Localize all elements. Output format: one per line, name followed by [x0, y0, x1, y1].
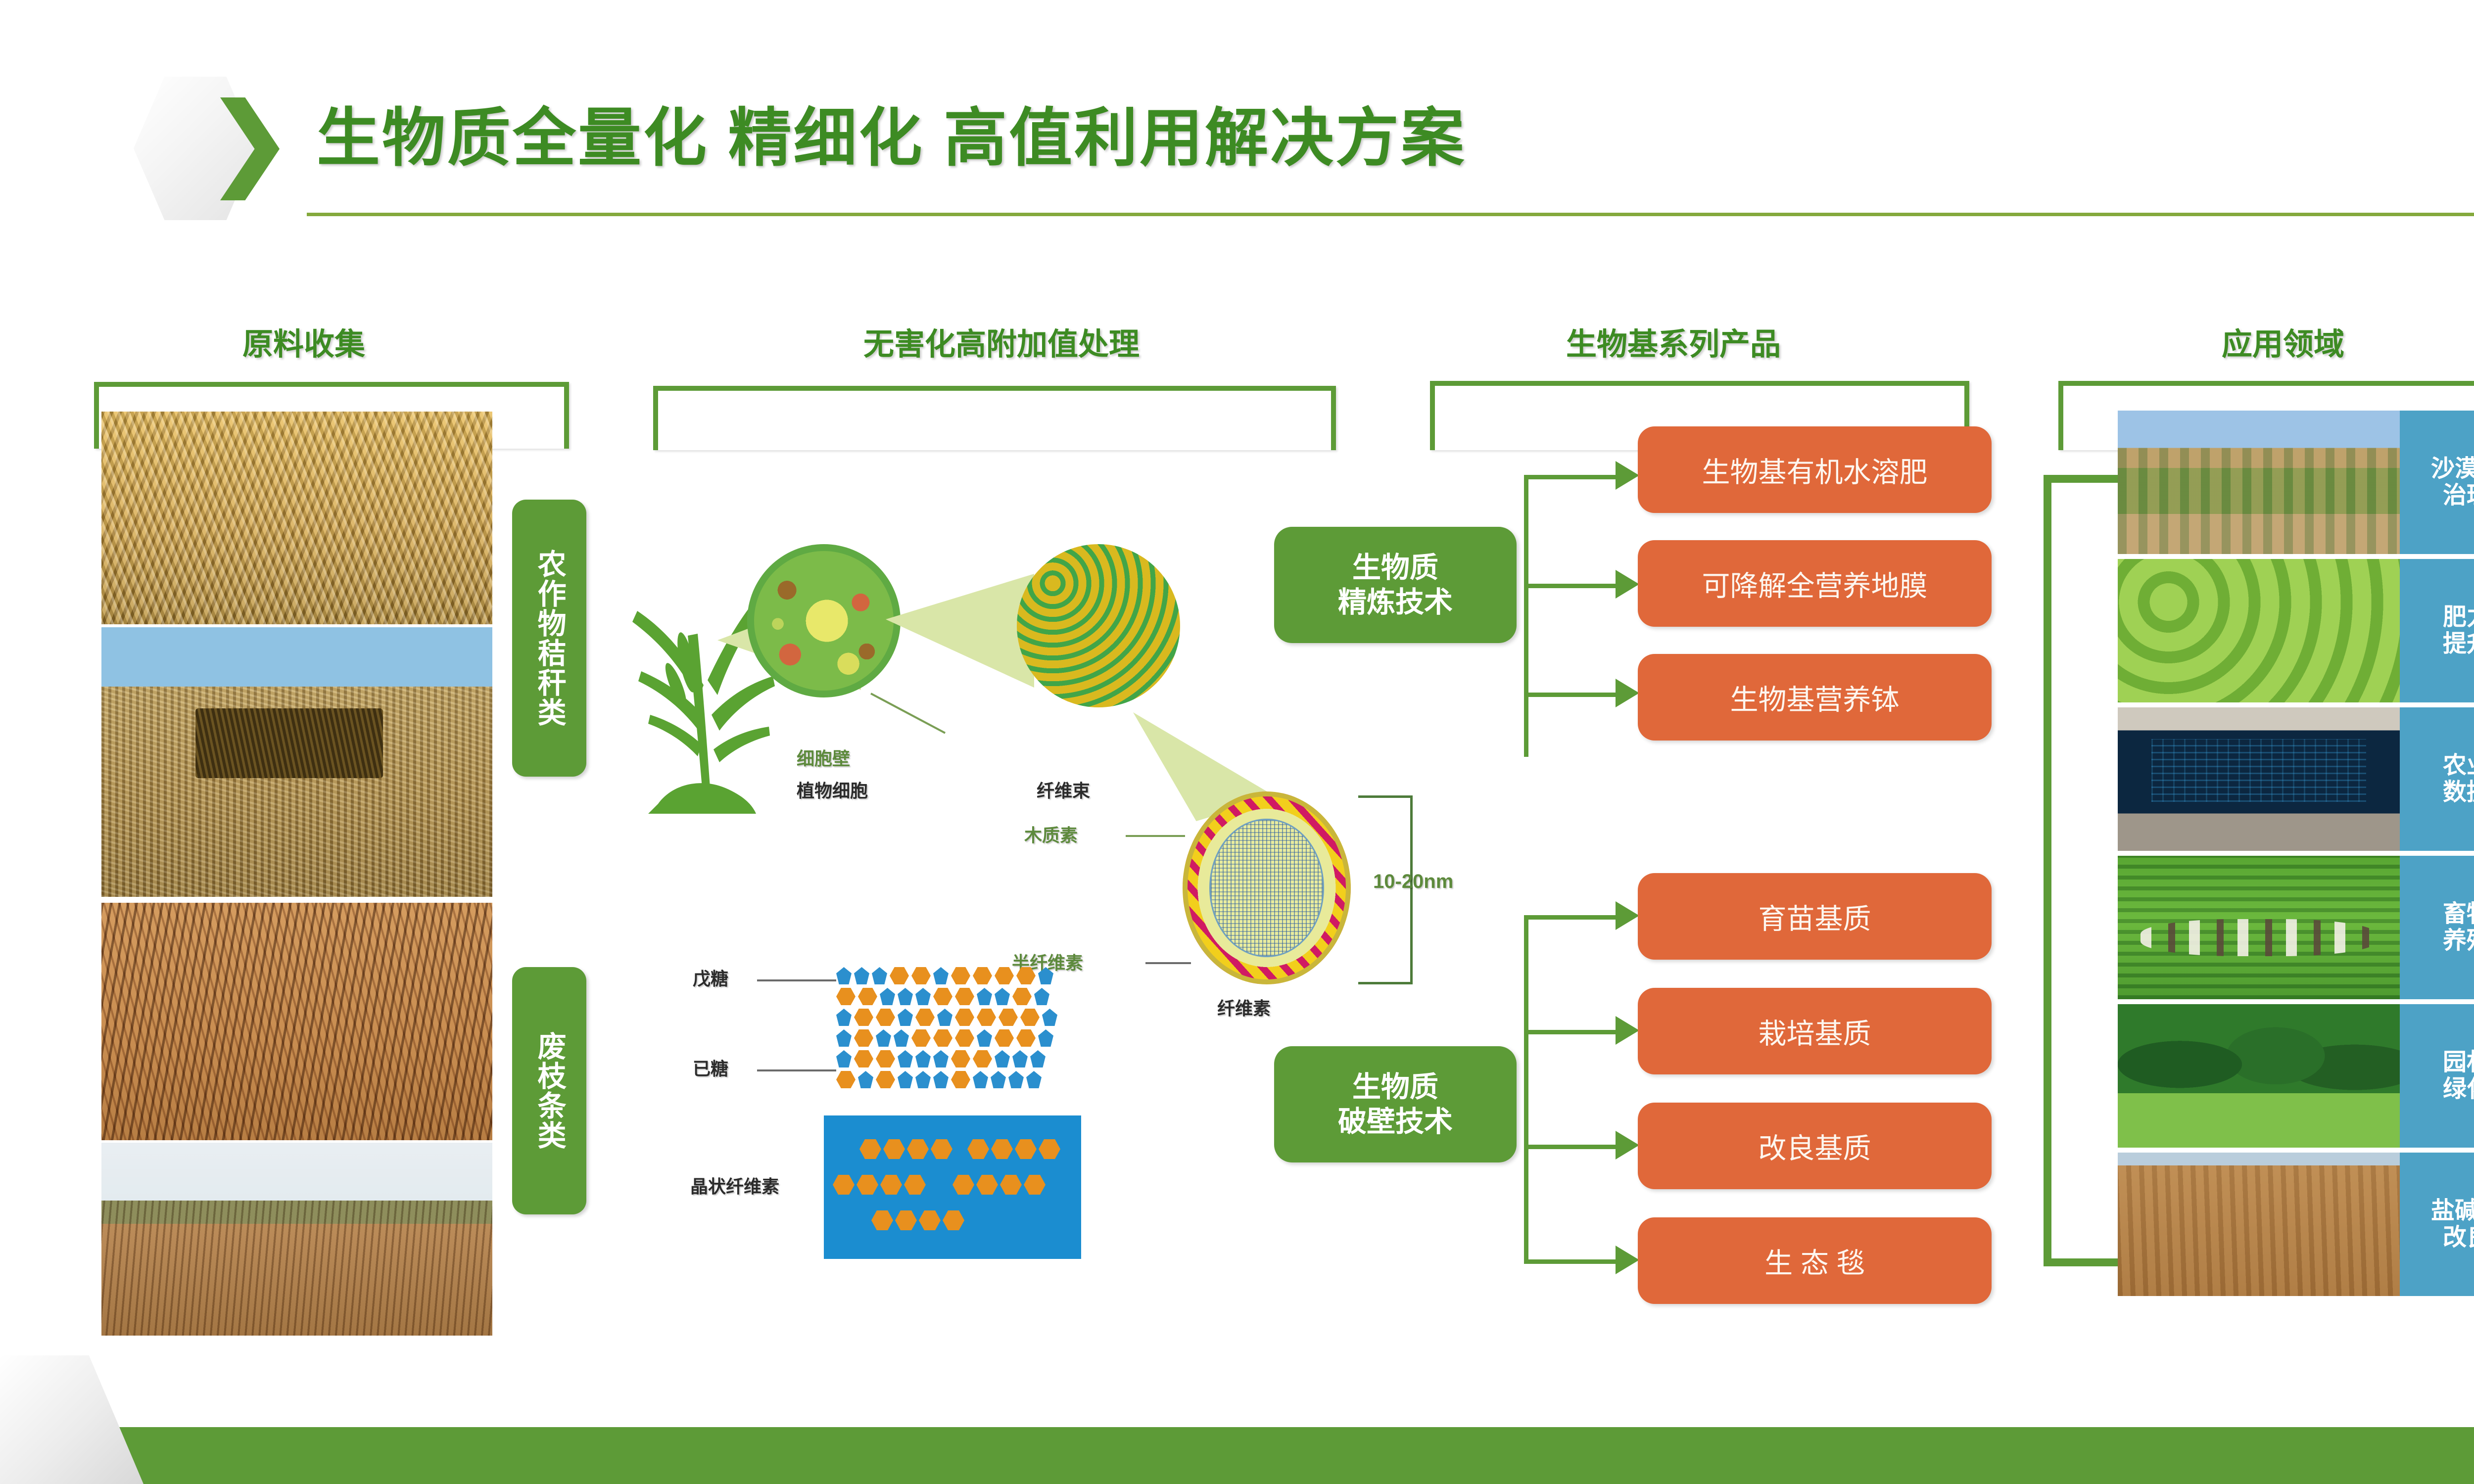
connector-cellwall-1 [1524, 915, 1618, 920]
feedstock-photo-branches [101, 903, 492, 1140]
application-photo-grazing-sheep [2118, 856, 2400, 999]
application-tag-fertility: 肥力提升 [2400, 559, 2474, 702]
application-row-desert[interactable]: 沙漠化治理 [2118, 411, 2474, 554]
application-row-fertility[interactable]: 肥力提升 [2118, 559, 2474, 702]
product-box-biodegradable-mulch-film[interactable]: 可降解全营养地膜 [1638, 540, 1992, 627]
cellulose-core [1209, 819, 1324, 958]
label-fiber-dimension: 10-20nm [1373, 871, 1453, 893]
leader-hexose [757, 1069, 836, 1071]
label-crystalline-cellulose: 晶状纤维素 [690, 1172, 779, 1198]
hexagon-chevron-logo [134, 77, 282, 220]
applications-bracket-bottom [2044, 1258, 2118, 1266]
leader-pentose [757, 979, 836, 981]
arrow-refining-2 [1616, 570, 1639, 599]
applications-bracket-spine [2044, 475, 2051, 1266]
applications-bracket-top [2044, 475, 2118, 483]
connector-cellwall-spine [1524, 915, 1528, 1261]
application-tag-saline: 盐碱地改良 [2400, 1153, 2474, 1296]
application-photo-saline-alkali-land [2118, 1153, 2400, 1296]
connector-refining-spine [1524, 475, 1528, 757]
label-hexose: 已糖 [693, 1055, 728, 1080]
application-photo-vegetable-field [2118, 559, 2400, 702]
page-title: 生物质全量化 精细化 高值利用解决方案 [317, 87, 1466, 178]
label-cellulose: 纤维素 [1217, 994, 1271, 1020]
arrow-refining-1 [1616, 461, 1639, 490]
connector-cellwall-2 [1524, 1030, 1618, 1034]
zoom-cone-fiber [886, 574, 1034, 688]
dim-tick-top [1358, 795, 1413, 798]
leader-hemicellulose [1145, 962, 1191, 964]
arrow-cellwall-1 [1616, 901, 1639, 930]
product-box-water-soluble-fertilizer[interactable]: 生物基有机水溶肥 [1638, 426, 1992, 513]
product-box-nutrient-pot[interactable]: 生物基营养钵 [1638, 654, 1992, 741]
feedstock-photo-corn-straw [101, 412, 492, 624]
stage-label-applications: 应用领域 [2222, 319, 2344, 364]
product-box-ecological-blanket[interactable]: 生 态 毯 [1638, 1217, 1992, 1304]
crystalline-cellulose-panel [824, 1115, 1081, 1259]
product-box-improvement-substrate[interactable]: 改良基质 [1638, 1103, 1992, 1189]
stage-label-processing: 无害化高附加值处理 [863, 319, 1140, 364]
arrow-cellwall-3 [1616, 1131, 1639, 1159]
application-tag-livestock: 畜牧养殖 [2400, 856, 2474, 999]
connector-refining-1 [1524, 475, 1618, 479]
label-fiber-bundle: 纤维束 [1037, 777, 1090, 802]
bracket-processing [653, 386, 1336, 450]
footer-wedge-decoration [0, 1355, 143, 1484]
application-photo-data-control-room [2118, 707, 2400, 851]
leader-cell-wall [870, 693, 946, 734]
tech-cellwall-line1: 生物质 [1352, 1070, 1438, 1105]
application-tag-desert-control: 沙漠化治理 [2400, 411, 2474, 554]
arrow-cellwall-2 [1616, 1016, 1639, 1045]
product-box-cultivation-substrate[interactable]: 栽培基质 [1638, 988, 1992, 1074]
application-row-agridata[interactable]: 农业数据 [2118, 707, 2474, 851]
application-tag-agridata: 农业数据 [2400, 707, 2474, 851]
tech-box-cellwall[interactable]: 生物质 破壁技术 [1274, 1046, 1517, 1162]
label-plant-cell: 植物细胞 [797, 777, 868, 802]
application-tag-landscaping: 园林绿化 [2400, 1004, 2474, 1148]
connector-refining-3 [1524, 693, 1618, 697]
connector-cellwall-3 [1524, 1145, 1618, 1149]
feedstock-tag-crop-straw: 农作物秸秆类 [512, 500, 586, 777]
title-divider [307, 213, 2474, 216]
fiber-cross-section [1183, 791, 1351, 984]
connector-refining-2 [1524, 584, 1618, 588]
tech-refining-line2: 精炼技术 [1338, 585, 1453, 620]
application-photo-landscape-trees [2118, 1004, 2400, 1148]
application-photo-desert-control [2118, 411, 2400, 554]
label-lignin: 木质素 [1024, 821, 1078, 847]
plant-cell-illustration [747, 544, 901, 697]
feedstock-tag-waste-branch: 废枝条类 [512, 967, 586, 1214]
product-box-seedling-substrate[interactable]: 育苗基质 [1638, 873, 1992, 960]
tech-cellwall-line2: 破壁技术 [1338, 1105, 1453, 1139]
feedstock-photo-baled-straw [101, 627, 492, 897]
leader-lignin [1126, 835, 1185, 837]
fiber-bundle-illustration [1017, 544, 1180, 707]
label-cell-wall: 细胞壁 [797, 744, 850, 770]
infographic-canvas: 生物质全量化 精细化 高值利用解决方案 原料收集 无害化高附加值处理 生物基系列… [0, 0, 2474, 1484]
footer-bar [0, 1427, 2474, 1484]
application-row-saline[interactable]: 盐碱地改良 [2118, 1153, 2474, 1296]
tech-refining-line1: 生物质 [1352, 551, 1438, 585]
stage-label-products: 生物基系列产品 [1566, 319, 1781, 364]
arrow-cellwall-4 [1616, 1246, 1639, 1274]
sugar-lattice-diagram [836, 967, 1057, 1092]
label-pentose: 戊糖 [693, 965, 728, 990]
arrow-refining-3 [1616, 679, 1639, 707]
stage-label-collection: 原料收集 [242, 319, 365, 364]
application-row-landscaping[interactable]: 园林绿化 [2118, 1004, 2474, 1148]
tech-box-refining[interactable]: 生物质 精炼技术 [1274, 527, 1517, 643]
application-row-livestock[interactable]: 畜牧养殖 [2118, 856, 2474, 999]
connector-cellwall-4 [1524, 1259, 1618, 1264]
dim-tick-bottom [1358, 982, 1413, 984]
feedstock-photo-orchard [101, 1143, 492, 1336]
